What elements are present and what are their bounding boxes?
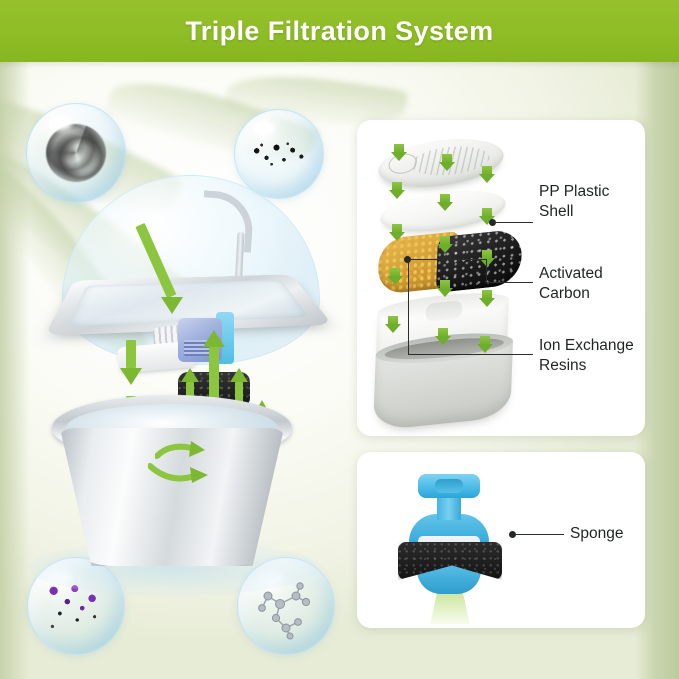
callout-line-resin xyxy=(408,354,533,355)
filter-diagram-card: PP Plastic Shell Activated Carbon Ion Ex… xyxy=(357,120,645,436)
spout-icon xyxy=(186,192,250,288)
page-title: Triple Filtration System xyxy=(185,16,493,47)
bubble-debris xyxy=(234,109,324,199)
callout-label-ion-exchange-resins: Ion Exchange Resins xyxy=(539,336,649,376)
callout-line-carbon xyxy=(486,282,533,283)
circulation-arrow-2 xyxy=(148,460,210,484)
callout-line-sponge xyxy=(514,534,564,535)
tray-notch xyxy=(425,300,462,322)
callout-line-pp xyxy=(493,222,533,223)
pump-sponge-assembly xyxy=(392,474,512,610)
header-banner: Triple Filtration System xyxy=(0,0,679,62)
callout-label-pp-plastic-shell: PP Plastic Shell xyxy=(539,182,639,222)
bowl-icon xyxy=(52,395,292,575)
debris-icon xyxy=(248,138,310,170)
callout-line-carbon-b xyxy=(407,259,487,260)
callout-vline-resin xyxy=(408,259,409,354)
callout-label-activated-carbon: Activated Carbon xyxy=(539,264,639,304)
callout-vline-carbon xyxy=(486,260,487,283)
circulation-arrow-1 xyxy=(155,440,207,462)
infographic-canvas: Triple Filtration System xyxy=(0,0,679,679)
bubble-hair xyxy=(26,103,126,203)
callout-label-sponge: Sponge xyxy=(570,524,650,544)
pump-cap xyxy=(418,474,480,498)
hair-clump-icon xyxy=(46,124,106,182)
